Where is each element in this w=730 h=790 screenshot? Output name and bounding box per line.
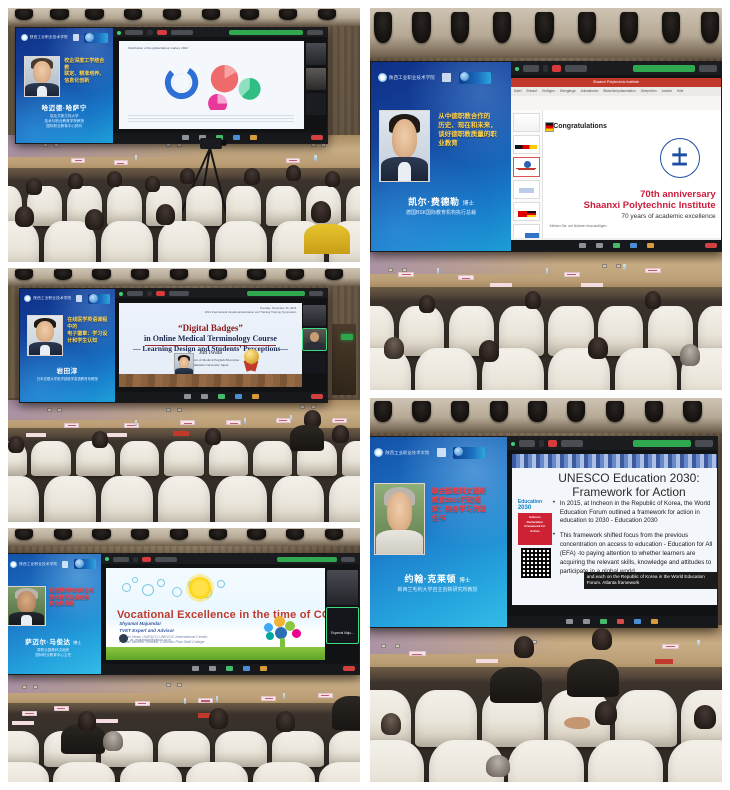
speaker-affiliation: 原联合国教科文组织 国际职业教育中心主任 xyxy=(8,648,101,658)
medal-icon xyxy=(244,349,259,364)
speaker-portrait xyxy=(379,110,429,182)
desk-document xyxy=(96,719,118,723)
zoom-meeting-topbar[interactable] xyxy=(101,554,359,564)
award-badge-icon xyxy=(242,349,262,371)
audience-head xyxy=(85,209,104,230)
share-screen-icon[interactable] xyxy=(613,243,620,248)
ceiling-light-icon xyxy=(202,9,220,20)
participants-icon[interactable] xyxy=(243,666,250,671)
unesco-slide: UNESCO Education 2030: Framework for Act… xyxy=(512,454,718,604)
anniversary-subheading: 70 years of academic excellence xyxy=(584,213,716,220)
screen-share-region: Vocational Excellence in the time of COV… xyxy=(101,554,359,674)
qr-logo-icon xyxy=(62,561,68,568)
water-bottle xyxy=(697,640,699,646)
wall-panel xyxy=(177,408,182,412)
audience-torso xyxy=(332,696,360,730)
ceiling-light-icon xyxy=(279,9,297,20)
minimize-button[interactable] xyxy=(133,557,138,562)
audience-head xyxy=(479,340,499,362)
record-indicator xyxy=(156,291,165,296)
powerpoint-slide-canvas[interactable]: Congratulations 70th anniversary Shaanxi… xyxy=(543,110,722,239)
ceiling-light-icon xyxy=(54,269,72,280)
chair xyxy=(120,441,160,477)
end-meeting-button[interactable] xyxy=(343,666,355,671)
audience-head xyxy=(332,425,349,443)
desk-document xyxy=(581,283,603,287)
ceiling-light-icon xyxy=(286,529,304,540)
chair xyxy=(186,762,248,782)
ribbon-tab[interactable]: Animationen xyxy=(581,89,599,93)
participant-thumbnail[interactable] xyxy=(306,68,326,90)
view-menu-button[interactable] xyxy=(519,440,535,447)
speaker-title-text: 博士 xyxy=(459,578,470,584)
speaker-affiliation: 新西兰毛利大学自主创新研究所教授 xyxy=(370,587,507,594)
shared-presentation-slide: UNESCO Education 2030: Framework for Act… xyxy=(512,454,718,604)
card-logo-row: 陕西工业职业技术学院 xyxy=(378,72,504,84)
speaker-intro-card: 陕西工业职业技术学院 后疫情时代的职业与 技术教育发展走势 和全新思路 xyxy=(8,554,101,674)
minimize-button[interactable] xyxy=(147,30,153,35)
participant-thumbnail[interactable] xyxy=(327,570,358,605)
ceiling-light-icon xyxy=(374,401,392,422)
powerpoint-titlebar: Shaanxi Polytechnic Institute xyxy=(511,78,721,88)
institute-seal-icon xyxy=(21,34,28,41)
gear-icon xyxy=(292,629,301,638)
ceiling xyxy=(8,8,360,26)
ribbon-tab[interactable]: Überprüfen xyxy=(641,89,657,93)
video-icon[interactable] xyxy=(201,394,208,399)
meeting-title-label xyxy=(171,30,193,35)
screen-share-region: UNESCO Education 2030: Framework for Act… xyxy=(507,437,717,627)
institute-logo-label: 陕西工业职业技术学院 xyxy=(385,450,429,456)
zoom-meeting-topbar[interactable] xyxy=(113,28,328,37)
chair xyxy=(266,186,301,227)
meeting-title-label xyxy=(155,557,177,562)
ribbon-tab[interactable]: Entwurf xyxy=(526,89,537,93)
chat-icon[interactable] xyxy=(250,135,257,140)
recording-dot-icon xyxy=(117,31,121,35)
audience-head xyxy=(26,178,42,195)
ceiling-light-icon xyxy=(325,529,343,540)
ceiling-light-icon xyxy=(15,269,33,280)
ceiling-light-icon xyxy=(535,12,553,43)
portrait-shirt xyxy=(40,345,50,355)
participants-icon[interactable] xyxy=(630,243,637,248)
speaker-intro-card: 陕西工业职业技术学院 联合国教科文组织 教育2030行动框 架：终身学习的证 但… xyxy=(370,437,507,627)
desk-document xyxy=(26,433,46,437)
ribbon-tab[interactable]: Ansicht xyxy=(662,89,672,93)
leave-button[interactable] xyxy=(695,440,713,447)
record-icon[interactable] xyxy=(617,619,624,624)
presentation-topic-cn: 从中德职教合作的 历史、现在和未来， 谈好德职教质量的职 业教育 xyxy=(438,113,505,148)
record-indicator xyxy=(552,65,561,72)
anniversary-line-1: 70th anniversary xyxy=(584,189,716,200)
slide-thumbnail-panel[interactable] xyxy=(511,110,543,239)
institute-logo-label: 陕西工业职业技术学院 xyxy=(33,296,71,301)
ceiling-light-icon xyxy=(645,401,663,422)
speaker-name-text: 约翰·克莱顿 xyxy=(405,574,457,584)
chair xyxy=(588,740,663,782)
audience-torso xyxy=(290,425,324,451)
portrait-shirt xyxy=(398,162,412,180)
name-tent xyxy=(180,420,195,425)
participant-thumbnail-column[interactable] xyxy=(303,303,326,387)
ceiling-light-icon xyxy=(412,401,430,422)
ribbon-tab[interactable]: Einfügen xyxy=(542,89,555,93)
recording-dot-icon xyxy=(515,67,519,71)
slide-author-affiliation: Department of Medical English Education … xyxy=(119,358,302,368)
water-bottle xyxy=(135,420,137,426)
share-status-bar xyxy=(633,440,691,447)
ceiling-light-icon xyxy=(490,401,508,422)
ribbon-tab[interactable]: Übergänge xyxy=(560,89,576,93)
view-menu-button[interactable] xyxy=(523,65,539,72)
chair xyxy=(668,740,722,782)
chair xyxy=(215,476,267,522)
speaker-name: 萨迈尔·马俊达 博士 xyxy=(8,636,101,646)
wall-panel xyxy=(602,264,607,268)
ceiling xyxy=(8,268,360,286)
chat-icon[interactable] xyxy=(651,619,658,624)
zoom-meeting-toolbar[interactable] xyxy=(507,616,717,627)
audience-head xyxy=(595,701,617,725)
minimize-button[interactable] xyxy=(543,65,548,72)
mute-icon[interactable] xyxy=(182,135,189,140)
ceiling-light-icon xyxy=(85,9,103,20)
powerpoint-ribbon-toolbar[interactable] xyxy=(511,96,721,110)
speaker-title-text: 博士 xyxy=(463,201,474,207)
speaker-name-text: 萨迈尔·马俊达 xyxy=(25,639,70,646)
speaker-name: 哈迈德·哈萨宁 xyxy=(16,102,112,112)
panel-3-photo: 陕西工业职业技术学院 在线医学英语课程中的 电子徽章：学习设 计和学生认知 xyxy=(8,268,360,522)
participants-icon[interactable] xyxy=(235,394,242,399)
portrait-skin xyxy=(387,492,412,531)
chair xyxy=(346,186,360,227)
slide-author-name: Jun Iwata xyxy=(119,350,302,356)
water-bottle xyxy=(216,696,218,702)
powerpoint-ribbon-tabs[interactable]: Datei Entwurf Einfügen Übergänge Animati… xyxy=(511,87,721,95)
speaker-affiliation: 日本岛根大学医学部医学英语教育系教授 xyxy=(20,377,115,382)
audience-head xyxy=(311,201,331,223)
name-tent xyxy=(64,423,79,428)
portrait-shirt xyxy=(21,615,31,625)
card-logo-row: 陕西工业职业技术学院 xyxy=(24,294,110,304)
panel-5-photo: 陕西工业职业技术学院 后疫情时代的职业与 技术教育发展走势 和全新思路 xyxy=(8,528,360,782)
participant-thumbnail[interactable] xyxy=(306,93,326,115)
institute-logo: 陕西工业职业技术学院 xyxy=(374,448,429,457)
slide-thumbnail[interactable] xyxy=(513,180,540,199)
screen-share-region: Distribution of the global labour market… xyxy=(113,28,328,143)
slide-wood-footer xyxy=(119,374,302,387)
wall-panel xyxy=(166,408,171,412)
portrait-face xyxy=(375,484,423,554)
ceiling-light-icon xyxy=(567,401,585,422)
mute-icon[interactable] xyxy=(566,619,573,624)
minimize-button[interactable] xyxy=(147,291,152,296)
audience-head xyxy=(525,291,541,309)
gallery-participant-label: Shyamal Maju... xyxy=(327,631,358,635)
zoom-meeting-toolbar[interactable] xyxy=(115,392,327,402)
name-tent xyxy=(135,701,150,706)
wall-panel xyxy=(47,408,52,412)
slide-decorative-border xyxy=(512,454,718,468)
participant-thumbnail-active[interactable]: Shyamal Maju... xyxy=(327,608,358,643)
participant-thumbnail[interactable] xyxy=(303,305,326,326)
audience-head xyxy=(92,431,108,448)
forum-logo-icon xyxy=(88,294,111,304)
end-meeting-button[interactable] xyxy=(311,135,323,140)
audience-head xyxy=(486,755,510,777)
audience-head xyxy=(381,713,401,735)
powerpoint-window-title: Shaanxi Polytechnic Institute xyxy=(593,80,639,84)
chair xyxy=(158,476,210,522)
ceiling-light-icon xyxy=(163,9,181,20)
end-meeting-button[interactable] xyxy=(705,243,717,248)
name-tent xyxy=(318,693,333,698)
audience-head xyxy=(68,173,83,189)
gear-icon xyxy=(275,627,287,639)
chair-row xyxy=(370,348,722,390)
ceiling-light-icon xyxy=(493,12,511,43)
wall-panel xyxy=(381,644,386,648)
audience-head xyxy=(103,731,123,751)
ceiling-light-icon xyxy=(247,269,265,280)
ceiling-light-icon xyxy=(240,9,258,20)
share-screen-icon[interactable] xyxy=(218,394,225,399)
poster-text: Incheon Declaration Framework for Action xyxy=(521,515,550,533)
mute-icon[interactable] xyxy=(192,666,199,671)
view-menu-button[interactable] xyxy=(127,291,143,296)
share-screen-icon[interactable] xyxy=(600,619,607,624)
ribbon-tab[interactable]: Hilfe xyxy=(677,89,683,93)
ceiling-light-icon xyxy=(374,12,392,43)
name-tent xyxy=(286,158,300,163)
participant-thumbnail[interactable] xyxy=(306,43,326,65)
meeting-title-label xyxy=(561,440,583,447)
chair xyxy=(342,441,360,477)
speaker-portrait xyxy=(374,483,424,555)
audience-torso xyxy=(567,659,619,697)
minimize-button[interactable] xyxy=(539,440,544,447)
card-logo-row: 陕西工业职业技术学院 xyxy=(10,559,96,569)
portrait-shirt xyxy=(37,86,47,96)
share-status-bar xyxy=(277,557,337,562)
slide-thumbnail-selected[interactable] xyxy=(513,157,540,176)
audience-head xyxy=(156,204,175,225)
slide-header-note: Tuesday, November 16, 2021 2021 Internat… xyxy=(205,306,297,314)
ceiling-light-icon xyxy=(247,529,265,540)
chair xyxy=(44,476,96,522)
chair xyxy=(31,441,71,477)
video-icon[interactable] xyxy=(209,666,216,671)
led-video-wall: 陕西工业职业技术学院 后疫情时代的职业与 技术教育发展走势 和全新思路 xyxy=(8,553,360,675)
chair-row xyxy=(8,476,360,522)
chart-graphic xyxy=(124,55,298,110)
wall-panel xyxy=(177,683,182,687)
participant-thumbnail-column[interactable] xyxy=(306,41,326,129)
leave-button[interactable] xyxy=(341,557,355,562)
ceiling-light-icon xyxy=(124,9,142,20)
chat-icon[interactable] xyxy=(260,666,267,671)
name-tent xyxy=(645,268,661,273)
ribbon-tab[interactable]: Datei xyxy=(514,89,521,93)
zoom-meeting-topbar[interactable] xyxy=(507,437,717,449)
ceiling-light-icon xyxy=(131,269,149,280)
slide-thumbnail[interactable] xyxy=(513,202,540,221)
shared-presentation-slide: Vocational Excellence in the time of COV… xyxy=(106,568,325,660)
mute-icon[interactable] xyxy=(184,394,191,399)
video-icon[interactable] xyxy=(583,619,590,624)
water-bottle xyxy=(290,415,292,421)
record-indicator xyxy=(548,440,557,447)
desk-document xyxy=(476,659,498,663)
chair-row xyxy=(8,186,360,227)
slide-title-line-1: “Digital Badges” xyxy=(130,323,291,333)
ceiling-light-icon xyxy=(170,269,188,280)
education-2030-logo: Education 2030 Incheon Declaration Frame… xyxy=(518,500,552,545)
audience-person-yellow-vest xyxy=(304,224,350,254)
speaker-name: 约翰·克莱顿 博士 xyxy=(370,572,507,585)
chair xyxy=(8,221,39,262)
participants-icon[interactable] xyxy=(233,135,240,140)
audience-head xyxy=(145,176,160,192)
ceiling-light-icon xyxy=(451,12,469,43)
institute-seal-icon xyxy=(24,295,31,302)
slide-greeting: Congratulations xyxy=(553,123,607,130)
name-tent xyxy=(409,651,426,656)
speaker-portrait xyxy=(8,586,46,627)
audience-head xyxy=(286,165,301,181)
ceiling-light-icon xyxy=(662,12,680,43)
name-tent xyxy=(276,418,291,423)
ceiling-light-icon xyxy=(209,269,227,280)
panel-4-photo: 陕西工业职业技术学院 联合国教科文组织 教育2030行动框 架：终身学习的证 但… xyxy=(370,398,722,782)
chair xyxy=(158,221,210,262)
chair xyxy=(120,762,182,782)
audience-head xyxy=(645,291,661,309)
portrait-suit xyxy=(376,530,422,554)
panel-2-photo: 陕西工业职业技术学院 从中德职教合作的 历史、现在和未来， 谈好德职教质量的职 … xyxy=(370,8,722,390)
slide-caption-note: and each on the Republic of Korea in the… xyxy=(584,572,718,590)
institute-logo: 陕西工业职业技术学院 xyxy=(21,34,68,41)
water-bottle xyxy=(623,264,625,270)
mute-icon[interactable] xyxy=(579,243,586,248)
ceiling-light-icon xyxy=(15,529,33,540)
exit-sign-icon xyxy=(341,334,353,340)
powerpoint-window-chrome: Shaanxi Polytechnic Institute Datei Entw… xyxy=(511,78,721,110)
leave-button[interactable] xyxy=(699,65,717,72)
participant-thumbnail-column[interactable]: Shyamal Maju... xyxy=(327,568,358,660)
audience-head xyxy=(15,206,34,227)
chat-icon[interactable] xyxy=(252,394,259,399)
ceiling-light-icon xyxy=(620,12,638,43)
led-video-wall: 陕西工业职业技术学院 校企深度工学结合教 联定、精准培养、 信息化创新 xyxy=(15,27,328,144)
zoom-meeting-toolbar[interactable] xyxy=(101,664,359,675)
desk-notebook xyxy=(173,431,189,436)
speaker-name-block: 岩田淳 日本岛根大学医学部医学英语教育系教授 xyxy=(20,365,115,382)
slide-green-footer xyxy=(106,647,325,660)
chair xyxy=(215,221,267,262)
name-tent xyxy=(662,644,679,649)
name-tent xyxy=(332,418,347,423)
ceiling-light-icon xyxy=(606,401,624,422)
leave-button[interactable] xyxy=(307,30,323,35)
chair xyxy=(101,221,153,262)
speaker-intro-card: 陕西工业职业技术学院 在线医学英语课程中的 电子徽章：学习设 计和学生认知 xyxy=(20,289,115,401)
leave-button[interactable] xyxy=(309,291,323,296)
institute-seal-icon xyxy=(374,448,383,457)
slide-title: UNESCO Education 2030: Framework for Act… xyxy=(545,472,714,500)
portrait-skin xyxy=(33,61,51,83)
speaker-name-block: 约翰·克莱顿 博士 新西兰毛利大学自主创新研究所教授 xyxy=(370,572,507,594)
video-icon[interactable] xyxy=(596,243,603,248)
audience-head xyxy=(107,171,122,187)
participants-icon[interactable] xyxy=(634,619,641,624)
speaker-name-text: 凯尔·费德勒 xyxy=(408,197,460,207)
share-screen-icon[interactable] xyxy=(226,666,233,671)
wall-panel xyxy=(395,644,400,648)
desk-document xyxy=(490,283,512,287)
ribbon-tab[interactable]: Bildschirmpräsentation xyxy=(603,89,635,93)
institute-logo: 陕西工业职业技术学院 xyxy=(378,73,435,82)
wall-panel xyxy=(388,268,393,272)
qr-logo-icon xyxy=(73,34,79,41)
zoom-meeting-topbar[interactable] xyxy=(511,62,721,74)
ceiling-light-icon xyxy=(170,529,188,540)
ceiling-light-icon xyxy=(528,401,546,422)
audience-head xyxy=(694,705,716,729)
chair xyxy=(508,740,583,782)
speaker-name: 岩田淳 xyxy=(20,365,115,375)
view-menu-button[interactable] xyxy=(125,30,143,35)
slide-author-block: Shyamal Majumdar TVET Expert and Advisor… xyxy=(119,621,208,646)
speaker-name: 凯尔·费德勒 博士 xyxy=(371,195,511,208)
view-menu-button[interactable] xyxy=(113,557,129,562)
ceiling-light-icon xyxy=(50,9,68,20)
anniversary-line-2: Shaanxi Polytechnic Institute xyxy=(584,200,716,211)
wall-panel xyxy=(311,405,316,409)
water-bottle xyxy=(437,268,439,274)
chair xyxy=(329,476,360,522)
zoom-meeting-topbar[interactable] xyxy=(115,289,327,298)
wall-panel xyxy=(166,683,171,687)
ceiling-light-icon xyxy=(451,401,469,422)
zoom-meeting-toolbar[interactable] xyxy=(511,240,721,251)
ceiling-light-icon xyxy=(92,269,110,280)
ceiling-light-icon xyxy=(701,12,719,43)
audience-head xyxy=(384,337,404,359)
name-tent xyxy=(226,420,241,425)
recording-dot-icon xyxy=(511,442,515,446)
gear-icon xyxy=(274,616,285,627)
speaker-title-text: 博士 xyxy=(73,640,81,645)
slide-thumbnail[interactable] xyxy=(513,135,540,154)
share-status-bar xyxy=(247,291,305,296)
institute-logo-label: 陕西工业职业技术学院 xyxy=(389,75,435,81)
chair xyxy=(415,348,477,390)
end-meeting-button[interactable] xyxy=(311,394,323,399)
ceiling xyxy=(8,528,360,546)
chat-icon[interactable] xyxy=(647,243,654,248)
audience-head xyxy=(325,171,340,187)
forum-logo-icon xyxy=(453,447,485,459)
participant-thumbnail[interactable] xyxy=(303,353,326,374)
participant-thumbnail-active[interactable] xyxy=(303,329,326,350)
chair xyxy=(209,441,249,477)
slide-thumbnail[interactable] xyxy=(513,113,540,132)
water-bottle xyxy=(314,155,316,161)
presentation-topic-cn: 联合国教科文组织 教育2030行动框 架：终身学习的证 但书 xyxy=(432,487,502,524)
chart-footnote-lines xyxy=(128,115,294,122)
